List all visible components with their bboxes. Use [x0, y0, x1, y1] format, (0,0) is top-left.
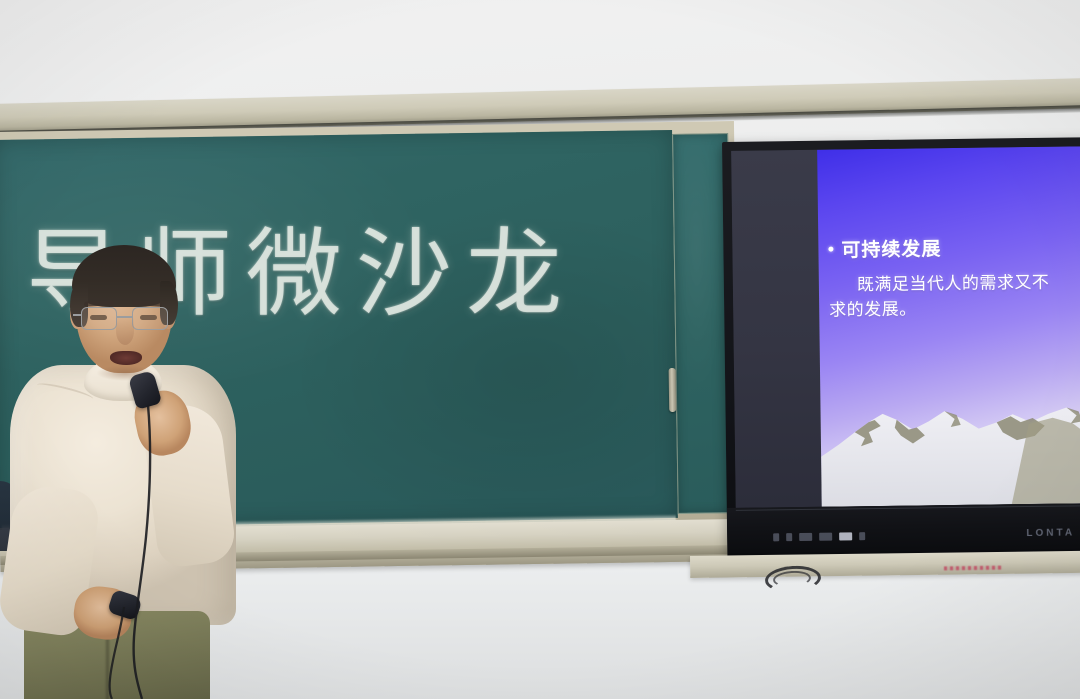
slide-body-text: 既满足当代人的需求又不 求的发展。: [829, 269, 1080, 323]
slide-body-line-1: 既满足当代人的需求又不: [829, 269, 1080, 298]
presenter-mouth: [110, 351, 142, 365]
bullet-dot-icon: [828, 247, 833, 252]
display-brand-logo: LONTA: [1026, 527, 1075, 539]
plus-button-icon[interactable]: [839, 532, 852, 540]
slide-bullet-line: 可持续发展: [828, 231, 1080, 262]
minus-button-icon[interactable]: [819, 533, 832, 541]
slide-text-block: 可持续发展 既满足当代人的需求又不 求的发展。: [828, 231, 1080, 323]
eyeglass-lens-left: [81, 307, 117, 330]
red-wall-marking: [944, 566, 1002, 571]
smart-display[interactable]: 可持续发展 既满足当代人的需求又不 求的发展。 LONTA: [722, 137, 1080, 560]
enter-button-icon[interactable]: [859, 532, 865, 540]
presenter-figure: [0, 255, 260, 699]
display-screen: 可持续发展 既满足当代人的需求又不 求的发展。: [731, 146, 1080, 508]
blackboard-panel-handle[interactable]: [669, 368, 677, 412]
slide-body-line-2: 求的发展。: [829, 299, 917, 320]
display-control-buttons[interactable]: [773, 532, 865, 541]
slide-bullet-text: 可持续发展: [841, 234, 941, 262]
classroom-scene: 导师微沙龙: [0, 0, 1080, 699]
menu-button-icon[interactable]: [799, 533, 812, 541]
eyeglass-lens-right: [132, 307, 168, 330]
power-button-icon[interactable]: [773, 533, 779, 541]
presentation-slide: 可持续发展 既满足当代人的需求又不 求的发展。: [817, 146, 1080, 507]
eyeglass-temple: [73, 314, 82, 316]
source-button-icon[interactable]: [786, 533, 792, 541]
presenter-nose: [116, 317, 134, 345]
screen-letterbox-band: [731, 150, 822, 508]
mountain-graphic-icon: [820, 383, 1080, 507]
